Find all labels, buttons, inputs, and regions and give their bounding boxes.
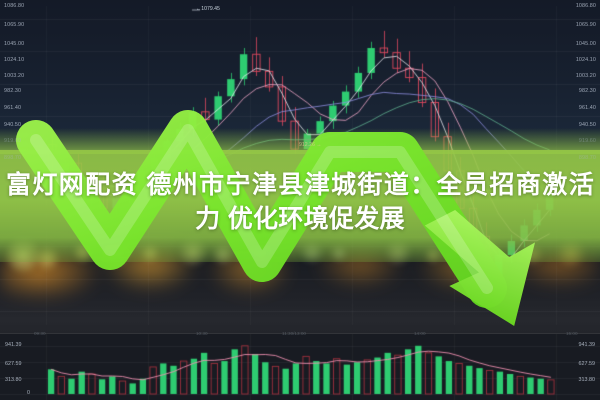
x-axis-tick: 10:30 [196, 331, 208, 336]
volume-y-label-right: 313.80 [579, 377, 596, 383]
price-y-label-right: 1045.00 [576, 41, 596, 47]
price-y-label-left: 1024.10 [4, 57, 24, 63]
price-y-label-left: 1045.00 [4, 41, 24, 47]
page-title: 富灯网配资 德州市宁津县津城街道：全员招商激活力 优化环境促发展 [6, 168, 594, 236]
volume-y-label-left: 627.59 [5, 361, 22, 367]
price-y-label-left: 961.40 [4, 105, 21, 111]
volume-y-label-left: 313.80 [5, 377, 22, 383]
price-y-label-left: 982.30 [4, 88, 21, 94]
x-axis-tick: 15:00 [566, 331, 578, 336]
price-y-label-right: 1065.90 [576, 22, 596, 28]
price-y-label-right: 940.50 [579, 122, 596, 128]
price-y-label-left: 1003.20 [4, 73, 24, 79]
x-axis-tick: 09:30 [34, 331, 46, 336]
price-y-label-left: 940.50 [4, 122, 21, 128]
screenshot-stage: 1086.80 1065.90 1045.00 1024.10 1003.20 … [0, 0, 600, 400]
volume-y-label-right: 627.59 [579, 361, 596, 367]
trough-annotation: 912.26 → [299, 142, 322, 148]
x-axis-tick: 11:30/13:00 [282, 331, 306, 336]
volume-y-label-left: 0 [27, 390, 30, 396]
price-y-label-right: 919.60 [579, 138, 596, 144]
price-y-label-right: 961.40 [579, 105, 596, 111]
peak-annotation: ←1079.45 [196, 6, 220, 12]
price-y-label-left: 1086.80 [4, 3, 24, 9]
volume-bar-chart [0, 334, 600, 400]
price-y-label-left: 919.60 [4, 138, 21, 144]
price-y-label-right: 982.30 [579, 88, 596, 94]
x-axis-tick: 14:00 [414, 331, 426, 336]
price-y-label-right: 1003.20 [576, 73, 596, 79]
price-y-label-left: 898.70 [4, 155, 21, 161]
volume-y-label-left: 941.39 [5, 342, 22, 348]
volume-y-label-right: 941.39 [579, 342, 596, 348]
price-y-label-right: 1024.10 [576, 57, 596, 63]
price-y-label-right: 898.70 [579, 155, 596, 161]
price-y-label-left: 1065.90 [4, 22, 24, 28]
price-y-label-right: 1086.80 [576, 3, 596, 9]
